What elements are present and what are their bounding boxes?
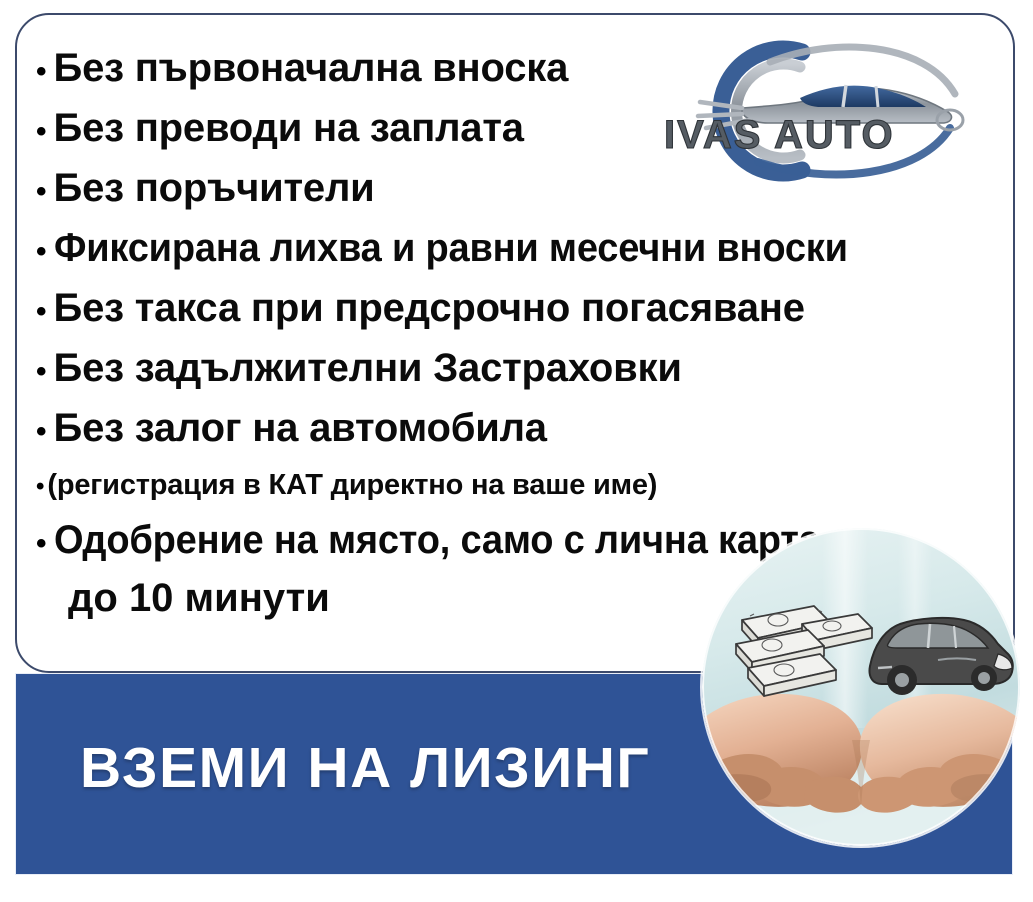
list-item-label: Фиксирана лихва и равни месечни вноски	[54, 220, 848, 276]
logo-wordmark: IVAS AUTO	[664, 113, 895, 157]
bullet-dot-icon: •	[36, 104, 47, 160]
list-item-label: Без такса при предсрочно погасяване	[54, 280, 805, 336]
list-item: • Без залог на автомобила	[36, 400, 996, 460]
bullet-dot-icon: •	[36, 224, 47, 280]
bullet-dot-icon: •	[36, 404, 47, 460]
list-item-label: Без първоначална вноска	[54, 40, 569, 96]
bullet-dot-icon: •	[36, 284, 47, 340]
list-item-label: Без преводи на заплата	[54, 100, 524, 156]
list-item-label: Без задължителни Застраховки	[54, 340, 682, 396]
list-item-note: • (регистрация в КАТ директно на ваше им…	[36, 460, 996, 512]
list-item: • Фиксирана лихва и равни месечни вноски	[36, 220, 996, 280]
list-item-label: Без поръчители	[54, 160, 375, 216]
bullet-dot-icon: •	[36, 164, 47, 220]
poster: • Без първоначална вноска • Без преводи …	[0, 0, 1033, 902]
list-item-note-label: (регистрация в КАТ директно на ваше име)	[47, 460, 657, 510]
bullet-dot-icon: •	[36, 344, 47, 400]
list-item: • Без такса при предсрочно погасяване	[36, 280, 996, 340]
banner-headline: ВЗЕМИ НА ЛИЗИНГ	[80, 735, 650, 801]
list-item-label: Без залог на автомобила	[54, 400, 547, 456]
ivas-auto-logo: IVAS AUTO	[650, 36, 980, 186]
bullet-dot-icon: •	[36, 516, 47, 572]
list-item: • Без задължителни Застраховки	[36, 340, 996, 400]
bullet-dot-icon: •	[36, 462, 44, 512]
hands-holding-money-and-car-photo	[702, 528, 1020, 846]
list-item-label: Одобрение на място, само с лична карта	[54, 512, 820, 568]
bullet-dot-icon: •	[36, 44, 47, 100]
